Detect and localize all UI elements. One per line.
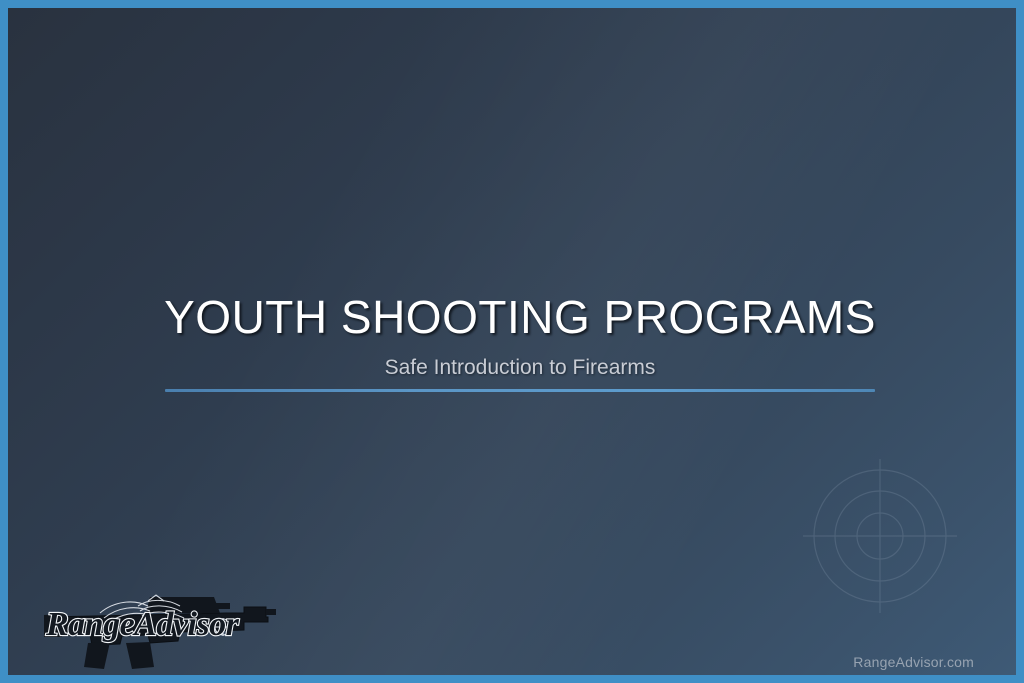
- page-title: YOUTH SHOOTING PROGRAMS: [8, 293, 1024, 341]
- title-block: YOUTH SHOOTING PROGRAMS Safe Introductio…: [8, 293, 1024, 380]
- brand-logo: RangeAdvisor: [30, 573, 278, 673]
- footer-url: RangeAdvisor.com: [853, 654, 974, 670]
- crosshair-target-icon: [802, 458, 958, 614]
- title-accent-rule: [165, 389, 875, 392]
- page-subtitle: Safe Introduction to Firearms: [8, 355, 1024, 380]
- presentation-slide: YOUTH SHOOTING PROGRAMS Safe Introductio…: [0, 0, 1024, 683]
- brand-logo-wordmark: RangeAdvisor: [45, 606, 240, 643]
